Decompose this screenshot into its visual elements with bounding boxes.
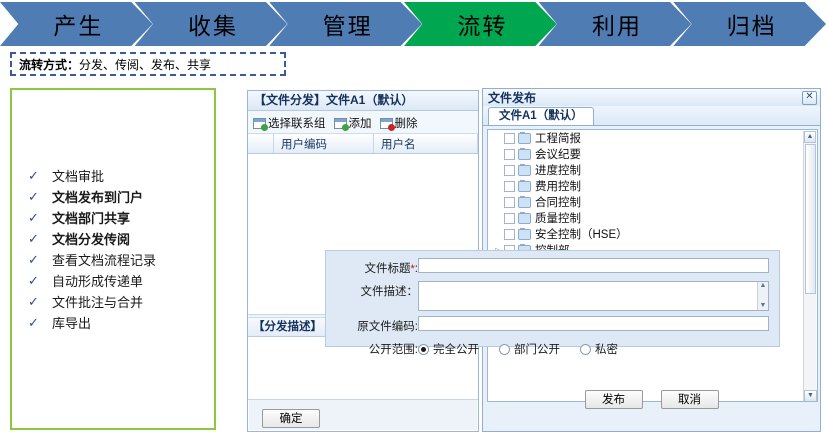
check-icon: ✓ [24, 168, 52, 184]
window-add-icon [253, 118, 266, 129]
user-grid-col-select [248, 134, 274, 153]
flow-method-note: 流转方式：分发、传阅、发布、共享 [10, 52, 286, 76]
tree-node-label: 安全控制（HSE） [535, 226, 628, 242]
publish-window-title: 文件发布 [488, 89, 536, 106]
scrollbar-thumb[interactable] [805, 144, 816, 294]
process-step-6[interactable]: 归档 [673, 2, 826, 46]
orig-code-input[interactable] [418, 316, 769, 331]
file-desc-textarea[interactable]: ▲ ▼ [418, 281, 769, 311]
toolbar-button-label: 添加 [349, 115, 372, 131]
process-step-label: 利用 [592, 7, 642, 41]
tree-node[interactable]: 费用控制 [488, 178, 817, 194]
tab-file-a1[interactable]: 文件A1（默认） [488, 107, 594, 125]
scope-radio-label: 部门公开 [514, 341, 560, 357]
tree-node[interactable]: 进度控制 [488, 162, 817, 178]
tree-node-label: 合同控制 [535, 194, 581, 210]
tree-node-label: 质量控制 [535, 210, 581, 226]
toolbar-button-label: 删除 [395, 115, 418, 131]
feature-item-label: 自动形成传递单 [52, 271, 143, 290]
publish-tabstrip: 文件A1（默认） [483, 106, 820, 126]
feature-item-2: ✓文档发布到门户 [24, 186, 156, 207]
textarea-scrollbar[interactable]: ▲ ▼ [757, 282, 768, 310]
process-step-label: 产生 [53, 7, 103, 41]
publish-window-header: 文件发布 ✕ [483, 89, 820, 106]
tree-node[interactable]: 质量控制 [488, 210, 817, 226]
process-step-1[interactable]: 产生 [0, 2, 153, 46]
folder-icon [518, 197, 531, 208]
feature-item-label: 文件批注与合并 [52, 292, 143, 311]
feature-item-label: 文档部门共享 [52, 208, 130, 227]
scope-radio-label: 完全公开 [433, 341, 479, 357]
process-step-label: 管理 [323, 7, 373, 41]
confirm-button[interactable]: 确定 [262, 409, 320, 428]
feature-item-label: 查看文档流程记录 [52, 250, 156, 269]
tree-node-checkbox[interactable] [504, 149, 515, 160]
tree-scrollbar[interactable]: ▲ ▼ [803, 131, 816, 402]
process-step-label: 收集 [188, 7, 238, 41]
tree-node[interactable]: 合同控制 [488, 194, 817, 210]
user-grid-col-username: 用户名 [374, 134, 478, 153]
tree-node[interactable]: 安全控制（HSE） [488, 226, 817, 242]
folder-icon [518, 165, 531, 176]
folder-icon [518, 149, 531, 160]
check-icon: ✓ [24, 189, 52, 205]
file-title-label-text: 文件标题 [365, 263, 411, 275]
tree-node-checkbox[interactable] [504, 165, 515, 176]
feature-item-label: 文档发布到门户 [52, 187, 143, 206]
file-title-input[interactable] [418, 258, 769, 273]
close-icon[interactable]: ✕ [802, 91, 817, 105]
scope-radio-group: 完全公开部门公开私密 [418, 339, 634, 357]
tree-node-label: 工程简报 [535, 130, 581, 146]
publish-form-overlay: 文件标题*: 文件描述： ▲ ▼ 原文件编码: 公开范围: 完全公开部门公开私密 [325, 250, 780, 347]
feature-list: ✓文档审批✓文档发布到门户✓文档部门共享✓文档分发传阅✓查看文档流程记录✓自动形… [24, 165, 156, 333]
folder-icon [518, 181, 531, 192]
scope-radio-私密[interactable] [580, 344, 591, 355]
process-step-2[interactable]: 收集 [135, 2, 288, 46]
feature-item-8: ✓库导出 [24, 312, 156, 333]
window-add-icon [334, 118, 347, 129]
delete-badge-icon [388, 124, 395, 131]
feature-item-label: 文档审批 [52, 166, 104, 185]
tree-node-label: 进度控制 [535, 162, 581, 178]
file-title-label: 文件标题*: [326, 258, 418, 276]
feature-item-4: ✓文档分发传阅 [24, 228, 156, 249]
check-icon: ✓ [24, 231, 52, 247]
toolbar-button-添加[interactable]: 添加 [332, 115, 374, 131]
feature-item-1: ✓文档审批 [24, 165, 156, 186]
orig-code-label: 原文件编码: [326, 316, 418, 334]
plus-badge-icon [342, 124, 349, 131]
scope-label: 公开范围: [326, 339, 418, 357]
distribute-window-title: 【文件分发】文件A1（默认） [248, 91, 478, 111]
toolbar-button-删除[interactable]: 删除 [378, 115, 420, 131]
form-row-origcode: 原文件编码: [326, 316, 769, 334]
feature-item-7: ✓文件批注与合并 [24, 291, 156, 312]
scope-radio-部门公开[interactable] [499, 344, 510, 355]
form-row-scope: 公开范围: 完全公开部门公开私密 [326, 339, 769, 357]
feature-item-3: ✓文档部门共享 [24, 207, 156, 228]
folder-icon [518, 213, 531, 224]
user-grid-header: 用户编码 用户名 [248, 134, 478, 154]
check-icon: ✓ [24, 252, 52, 268]
scroll-up-icon[interactable]: ▲ [804, 131, 816, 143]
feature-item-label: 库导出 [52, 313, 91, 332]
process-step-label: 流转 [457, 7, 507, 41]
check-icon: ✓ [24, 294, 52, 310]
check-icon: ✓ [24, 315, 52, 331]
distribute-toolbar: 选择联系组添加删除 [248, 111, 478, 134]
check-icon: ✓ [24, 273, 52, 289]
feature-item-label: 文档分发传阅 [52, 229, 130, 248]
publish-button-row: 发布 取消 [483, 390, 820, 409]
tree-node[interactable]: 会议纪要 [488, 146, 817, 162]
cancel-button[interactable]: 取消 [661, 390, 719, 409]
form-row-desc: 文件描述： ▲ ▼ [326, 281, 769, 311]
tree-node[interactable]: 工程简报 [488, 130, 817, 146]
tree-node-label: 费用控制 [535, 178, 581, 194]
publish-button[interactable]: 发布 [585, 390, 643, 409]
flow-method-note-body: 分发、传阅、发布、共享 [79, 56, 211, 73]
tree-node-checkbox[interactable] [504, 197, 515, 208]
feature-list-box: ✓文档审批✓文档发布到门户✓文档部门共享✓文档分发传阅✓查看文档流程记录✓自动形… [10, 88, 216, 430]
feature-item-5: ✓查看文档流程记录 [24, 249, 156, 270]
flow-method-note-title: 流转方式： [19, 56, 79, 73]
check-icon: ✓ [24, 210, 52, 226]
process-step-4[interactable]: 流转 [404, 2, 557, 46]
scope-radio-完全公开[interactable] [418, 344, 429, 355]
scope-radio-label: 私密 [595, 341, 618, 357]
window-delete-icon [380, 118, 393, 129]
toolbar-button-选择联系组[interactable]: 选择联系组 [251, 115, 328, 131]
folder-icon [518, 133, 531, 144]
tree-node-checkbox[interactable] [504, 181, 515, 192]
folder-icon [518, 229, 531, 240]
tree-node-label: 会议纪要 [535, 146, 581, 162]
plus-badge-icon [261, 124, 268, 131]
process-step-label: 归档 [727, 7, 777, 41]
textarea-scroll-down-icon[interactable]: ▼ [760, 302, 767, 310]
tree-node-checkbox[interactable] [504, 213, 515, 224]
user-grid-col-usercode: 用户编码 [274, 134, 374, 153]
process-banner: 产生收集管理流转利用归档 [0, 2, 826, 46]
distribute-button-row: 确定 [248, 400, 478, 428]
form-row-title: 文件标题*: [326, 258, 769, 276]
tree-node-checkbox[interactable] [504, 229, 515, 240]
toolbar-button-label: 选择联系组 [268, 115, 326, 131]
file-desc-label: 文件描述： [326, 281, 418, 299]
tree-node-checkbox[interactable] [504, 133, 515, 144]
process-step-5[interactable]: 利用 [539, 2, 692, 46]
feature-item-6: ✓自动形成传递单 [24, 270, 156, 291]
process-step-3[interactable]: 管理 [269, 2, 422, 46]
textarea-scroll-up-icon[interactable]: ▲ [760, 282, 767, 290]
